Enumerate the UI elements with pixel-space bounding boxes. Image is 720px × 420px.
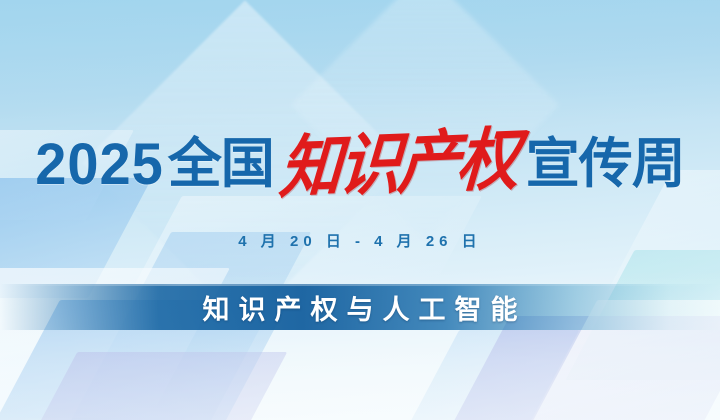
theme-text: 知识产权与人工智能 [194, 288, 527, 327]
banner-content: 2025 全国 知识产权 宣传周 4 月 20 日 - 4 月 26 日 知识产… [0, 0, 720, 420]
theme-band: 知识产权与人工智能 [0, 284, 720, 330]
headline-year: 2025 [35, 135, 164, 193]
date-range: 4 月 20 日 - 4 月 26 日 [0, 230, 720, 251]
headline-scope: 全国 [168, 137, 274, 191]
headline-emphasis: 知识产权 [277, 125, 518, 202]
headline: 2025 全国 知识产权 宣传周 [0, 128, 720, 200]
headline-suffix: 宣传周 [526, 137, 685, 191]
ip-week-banner: 2025 全国 知识产权 宣传周 4 月 20 日 - 4 月 26 日 知识产… [0, 0, 720, 420]
